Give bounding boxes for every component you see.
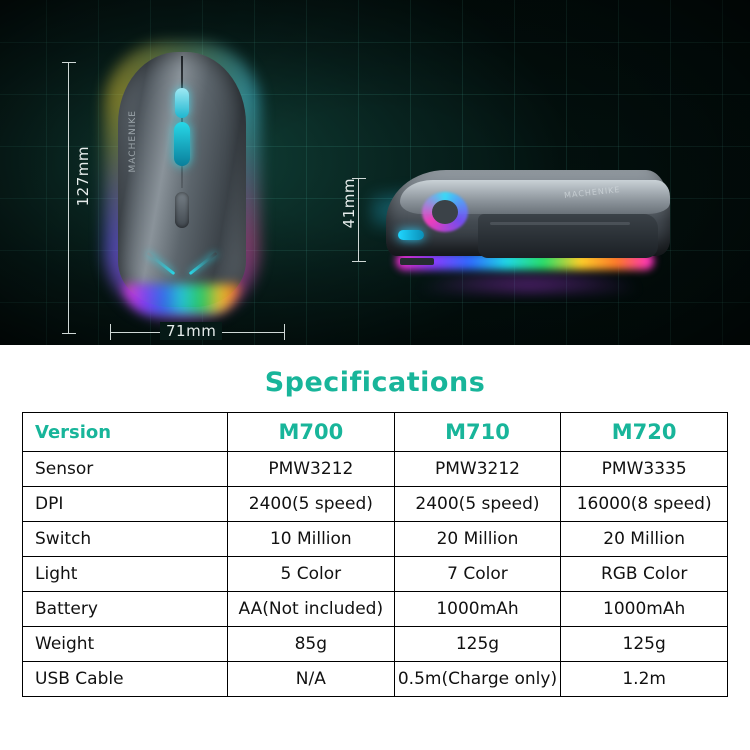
mouse-side-foot	[400, 258, 434, 265]
row-label-battery: Battery	[23, 592, 228, 627]
brand-label-top: MACHENIKE	[128, 110, 138, 172]
height-dim-line	[68, 62, 69, 334]
row-label-light: Light	[23, 557, 228, 592]
cell-light-m710: 7 Color	[394, 557, 561, 592]
specifications-table-body: Version M700 M710 M720 Sensor PMW3212 PM…	[23, 413, 728, 697]
mouse-scroll-led-upper	[175, 88, 189, 118]
mouse-top-view: MACHENIKE	[118, 52, 246, 307]
height-dim-tick-top	[62, 62, 76, 63]
mouse-led-arrow-left	[147, 252, 176, 275]
mouse-side-rgb-ring-inner	[432, 200, 458, 224]
cell-switch-m700: 10 Million	[228, 522, 395, 557]
header-cell-m710: M710	[394, 413, 561, 452]
row-label-dpi: DPI	[23, 487, 228, 522]
specifications-section: Specifications Version M700 M710 M720 Se…	[0, 345, 750, 750]
cell-sensor-m710: PMW3212	[394, 452, 561, 487]
cell-weight-m710: 125g	[394, 627, 561, 662]
specifications-table: Version M700 M710 M720 Sensor PMW3212 PM…	[22, 412, 728, 697]
table-row: Weight 85g 125g 125g	[23, 627, 728, 662]
mouse-top-body: MACHENIKE	[118, 52, 246, 307]
mouse-led-arrow-right	[189, 252, 218, 275]
width-dimension-label: 71mm	[160, 322, 222, 340]
row-label-weight: Weight	[23, 627, 228, 662]
cell-battery-m720: 1000mAh	[561, 592, 728, 627]
table-row: Light 5 Color 7 Color RGB Color	[23, 557, 728, 592]
specifications-title: Specifications	[0, 367, 750, 398]
cell-sensor-m700: PMW3212	[228, 452, 395, 487]
mouse-side-lower-shell	[478, 214, 658, 258]
profile-dim-line	[358, 178, 359, 262]
cell-usb-m720: 1.2m	[561, 662, 728, 697]
cell-battery-m710: 1000mAh	[394, 592, 561, 627]
cell-switch-m720: 20 Million	[561, 522, 728, 557]
hero-image-area: MACHENIKE MACHENIKE 127mm	[0, 0, 750, 365]
header-cell-m720: M720	[561, 413, 728, 452]
mouse-side-body: MACHENIKE	[386, 170, 670, 256]
width-dim-tick-left	[110, 324, 111, 340]
mouse-side-view: MACHENIKE	[378, 162, 678, 282]
product-spec-page: MACHENIKE MACHENIKE 127mm	[0, 0, 750, 750]
mouse-top-rgb-strip	[124, 284, 240, 314]
mouse-side-led	[398, 230, 424, 240]
table-header-row: Version M700 M710 M720	[23, 413, 728, 452]
table-row: Switch 10 Million 20 Million 20 Million	[23, 522, 728, 557]
row-label-sensor: Sensor	[23, 452, 228, 487]
cell-usb-m700: N/A	[228, 662, 395, 697]
cell-sensor-m720: PMW3335	[561, 452, 728, 487]
height-dim-tick-bottom	[62, 333, 76, 334]
cell-dpi-m710: 2400(5 speed)	[394, 487, 561, 522]
header-cell-m700: M700	[228, 413, 395, 452]
cell-light-m720: RGB Color	[561, 557, 728, 592]
table-row: DPI 2400(5 speed) 2400(5 speed) 16000(8 …	[23, 487, 728, 522]
mouse-scroll-wheel	[174, 122, 190, 166]
height-dimension-label: 127mm	[74, 146, 92, 206]
cell-light-m700: 5 Color	[228, 557, 395, 592]
table-row: Sensor PMW3212 PMW3212 PMW3335	[23, 452, 728, 487]
table-row: Battery AA(Not included) 1000mAh 1000mAh	[23, 592, 728, 627]
header-cell-version: Version	[23, 413, 228, 452]
cell-battery-m700: AA(Not included)	[228, 592, 395, 627]
profile-dim-tick-bottom	[352, 261, 366, 262]
cell-usb-m710: 0.5m(Charge only)	[394, 662, 561, 697]
cell-weight-m720: 125g	[561, 627, 728, 662]
row-label-usb-cable: USB Cable	[23, 662, 228, 697]
cell-switch-m710: 20 Million	[394, 522, 561, 557]
mouse-side-vent-line	[490, 222, 630, 225]
profile-height-label: 41mm	[340, 178, 358, 228]
cell-dpi-m700: 2400(5 speed)	[228, 487, 395, 522]
width-dim-tick-right	[284, 324, 285, 340]
cell-dpi-m720: 16000(8 speed)	[561, 487, 728, 522]
mouse-dpi-button	[175, 192, 189, 228]
row-label-switch: Switch	[23, 522, 228, 557]
cell-weight-m700: 85g	[228, 627, 395, 662]
table-row: USB Cable N/A 0.5m(Charge only) 1.2m	[23, 662, 728, 697]
